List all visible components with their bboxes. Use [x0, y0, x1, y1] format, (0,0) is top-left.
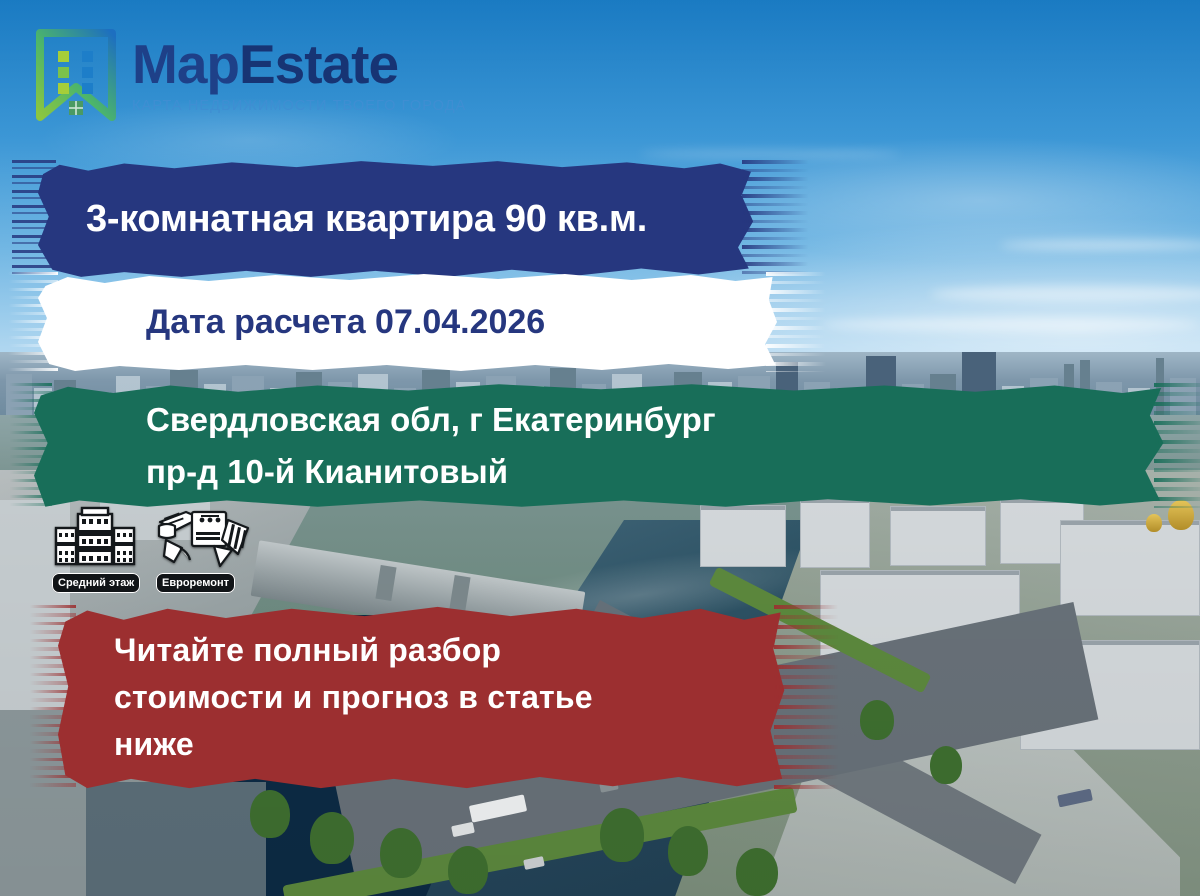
building-roof	[86, 782, 266, 896]
renovation-tools-icon	[156, 506, 252, 573]
tree	[380, 828, 422, 878]
cta-line-1: Читайте полный разбор	[58, 627, 788, 674]
property-title-banner: 3-комнатная квартира 90 кв.м.	[38, 160, 756, 278]
badge-euro-renovation-label: Евроремонт	[156, 573, 235, 593]
tree	[668, 826, 708, 876]
church-dome-icon	[1168, 500, 1194, 530]
brand-name-part1: Map	[132, 33, 239, 95]
property-title-text: 3-комнатная квартира 90 кв.м.	[38, 198, 756, 241]
feature-badges: Средний этаж	[52, 506, 252, 591]
tree	[736, 848, 778, 896]
apartment-building-icon	[52, 506, 148, 573]
calculation-date-banner: Дата расчета 07.04.2026	[38, 272, 780, 372]
address-line-2: пр-д 10-й Кианитовый	[34, 450, 1168, 494]
address-banner: Свердловская обл, г Екатеринбург пр-д 10…	[34, 383, 1168, 508]
tree	[250, 790, 290, 838]
tree	[600, 808, 644, 862]
badge-euro-renovation[interactable]: Евроремонт	[156, 506, 252, 591]
cta-banner: Читайте полный разбор стоимости и прогно…	[58, 605, 788, 790]
bookmark-building-icon	[34, 29, 118, 121]
church-dome-icon	[1146, 514, 1162, 532]
calculation-date-text: Дата расчета 07.04.2026	[38, 303, 780, 342]
tree	[930, 746, 962, 784]
tree	[860, 700, 894, 740]
tree	[310, 812, 354, 864]
cta-line-2: стоимости и прогноз в статье	[58, 674, 788, 721]
building-block	[890, 506, 986, 566]
site-header: MapEstate КАРТА НЕДВИЖИМОСТИ ТВОЕГО ГОРО…	[0, 0, 1200, 150]
brand-name: MapEstate	[132, 37, 466, 92]
building-block	[800, 498, 870, 568]
brand-name-part2: Estate	[239, 33, 398, 95]
cloud-wisp	[640, 150, 900, 158]
address-line-1: Свердловская обл, г Екатеринбург	[34, 398, 1168, 442]
cta-line-3: ниже	[58, 721, 788, 768]
building-block	[1060, 520, 1200, 616]
poster-canvas: MapEstate КАРТА НЕДВИЖИМОСТИ ТВОЕГО ГОРО…	[0, 0, 1200, 896]
brand-tagline: КАРТА НЕДВИЖИМОСТИ ТВОЕГО ГОРОДА	[132, 99, 466, 114]
building-block	[700, 505, 786, 567]
brand-logo[interactable]: MapEstate КАРТА НЕДВИЖИМОСТИ ТВОЕГО ГОРО…	[34, 29, 466, 121]
cloud-wisp	[820, 318, 1200, 331]
badge-middle-floor[interactable]: Средний этаж	[52, 506, 148, 591]
tree	[448, 846, 488, 894]
badge-middle-floor-label: Средний этаж	[52, 573, 140, 593]
